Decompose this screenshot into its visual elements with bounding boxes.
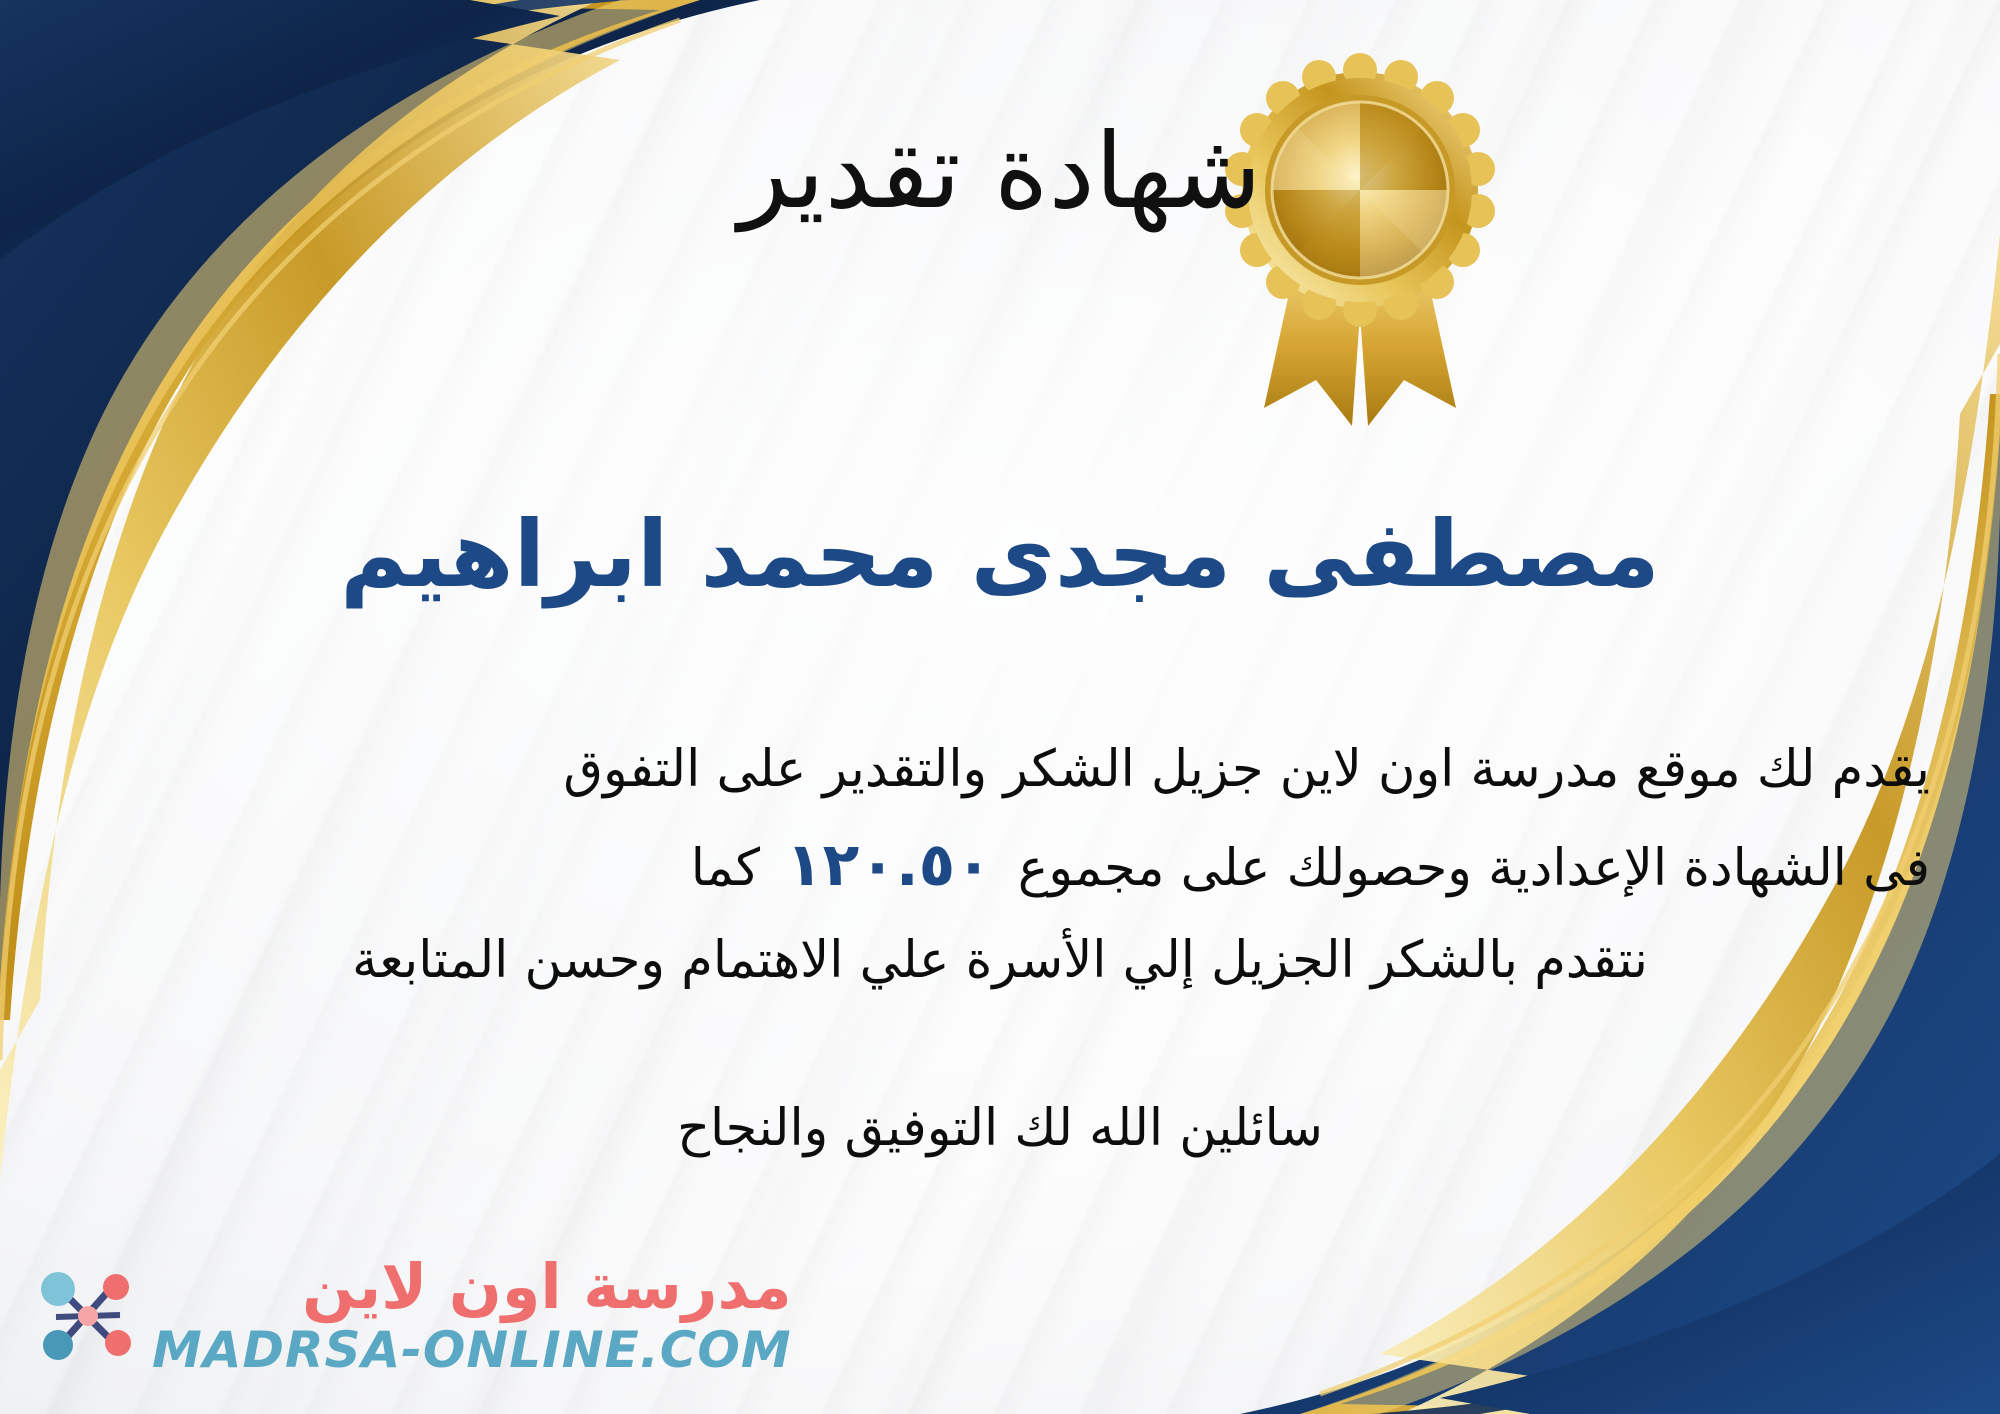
- recipient-name: مصطفى مجدى محمد ابراهيم: [0, 500, 2000, 610]
- body-line-2-suffix: كما: [691, 839, 760, 898]
- certificate-body: يقدم لك موقع مدرسة اون لاين جزيل الشكر و…: [60, 726, 1940, 1005]
- body-line-3: نتقدم بالشكر الجزيل إلي الأسرة علي الاهت…: [60, 917, 1940, 1005]
- certificate-content: شهادة تقدير مصطفى مجدى محمد ابراهيم يقدم…: [0, 0, 2000, 1414]
- certificate-canvas: شهادة تقدير مصطفى مجدى محمد ابراهيم يقدم…: [0, 0, 2000, 1414]
- brand-website: MADRSA-ONLINE.COM: [152, 1324, 792, 1377]
- body-line-1: يقدم لك موقع مدرسة اون لاين جزيل الشكر و…: [60, 726, 1940, 814]
- body-line-2: فى الشهادة الإعدادية وحصولك على مجموع١٢٠…: [60, 814, 1940, 917]
- brand-logo[interactable]: مدرسة اون لاين MADRSA-ONLINE.COM: [28, 1256, 792, 1377]
- brand-logo-text: مدرسة اون لاين MADRSA-ONLINE.COM: [152, 1256, 792, 1377]
- brand-name-arabic: مدرسة اون لاين: [302, 1256, 792, 1318]
- network-nodes-icon: [28, 1257, 146, 1375]
- body-line-2-prefix: فى الشهادة الإعدادية وحصولك على مجموع: [1018, 839, 1930, 898]
- closing-statement: سائلين الله لك التوفيق والنجاح: [0, 1088, 2000, 1170]
- page-title: شهادة تقدير: [0, 112, 2000, 232]
- grade-value: ١٢٠.٥٠: [760, 830, 1018, 900]
